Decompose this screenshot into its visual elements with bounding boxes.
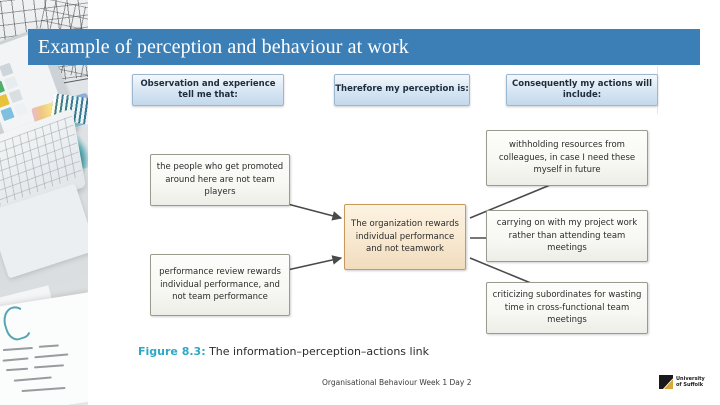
- logo-line-2: of Suffolk: [676, 382, 705, 388]
- slide-title-bar: Example of perception and behaviour at w…: [28, 29, 700, 65]
- node-carrying-on-project-work: carrying on with my project work rather …: [486, 210, 648, 262]
- desktop-tile: [14, 102, 28, 116]
- university-logo: University of Suffolk: [659, 375, 705, 389]
- footer-label: Organisational Behaviour Week 1 Day 2: [322, 378, 471, 387]
- desktop-tile: [9, 89, 23, 103]
- desktop-tile: [0, 107, 14, 121]
- figure-caption: Figure 8.3: The information–perception–a…: [138, 345, 429, 358]
- desktop-tile: [0, 63, 13, 77]
- column-header-actions: Consequently my actions will include:: [506, 74, 658, 106]
- figure-caption-text: The information–perception–actions link: [206, 345, 429, 358]
- node-criticizing-subordinates: criticizing subordinates for wasting tim…: [486, 282, 648, 334]
- page-title: Example of perception and behaviour at w…: [28, 36, 409, 59]
- diagram-area: Observation and experience tell me that:…: [88, 66, 720, 366]
- figure-number: Figure 8.3:: [138, 345, 206, 358]
- node-withholding-resources: withholding resources from colleagues, i…: [486, 130, 648, 186]
- logo-mark-icon: [659, 375, 673, 389]
- desktop-tile: [0, 94, 10, 108]
- column-header-observation: Observation and experience tell me that:: [132, 74, 284, 106]
- slide-canvas: Example of perception and behaviour at w…: [0, 0, 720, 405]
- node-organization-rewards: The organization rewards individual perf…: [344, 204, 466, 270]
- desktop-tile: [4, 76, 18, 90]
- node-people-promoted: the people who get promoted around here …: [150, 154, 290, 206]
- node-performance-review: performance review rewards individual pe…: [150, 254, 290, 316]
- column-header-perception: Therefore my perception is:: [334, 74, 470, 106]
- logo-wordmark: University of Suffolk: [676, 376, 705, 389]
